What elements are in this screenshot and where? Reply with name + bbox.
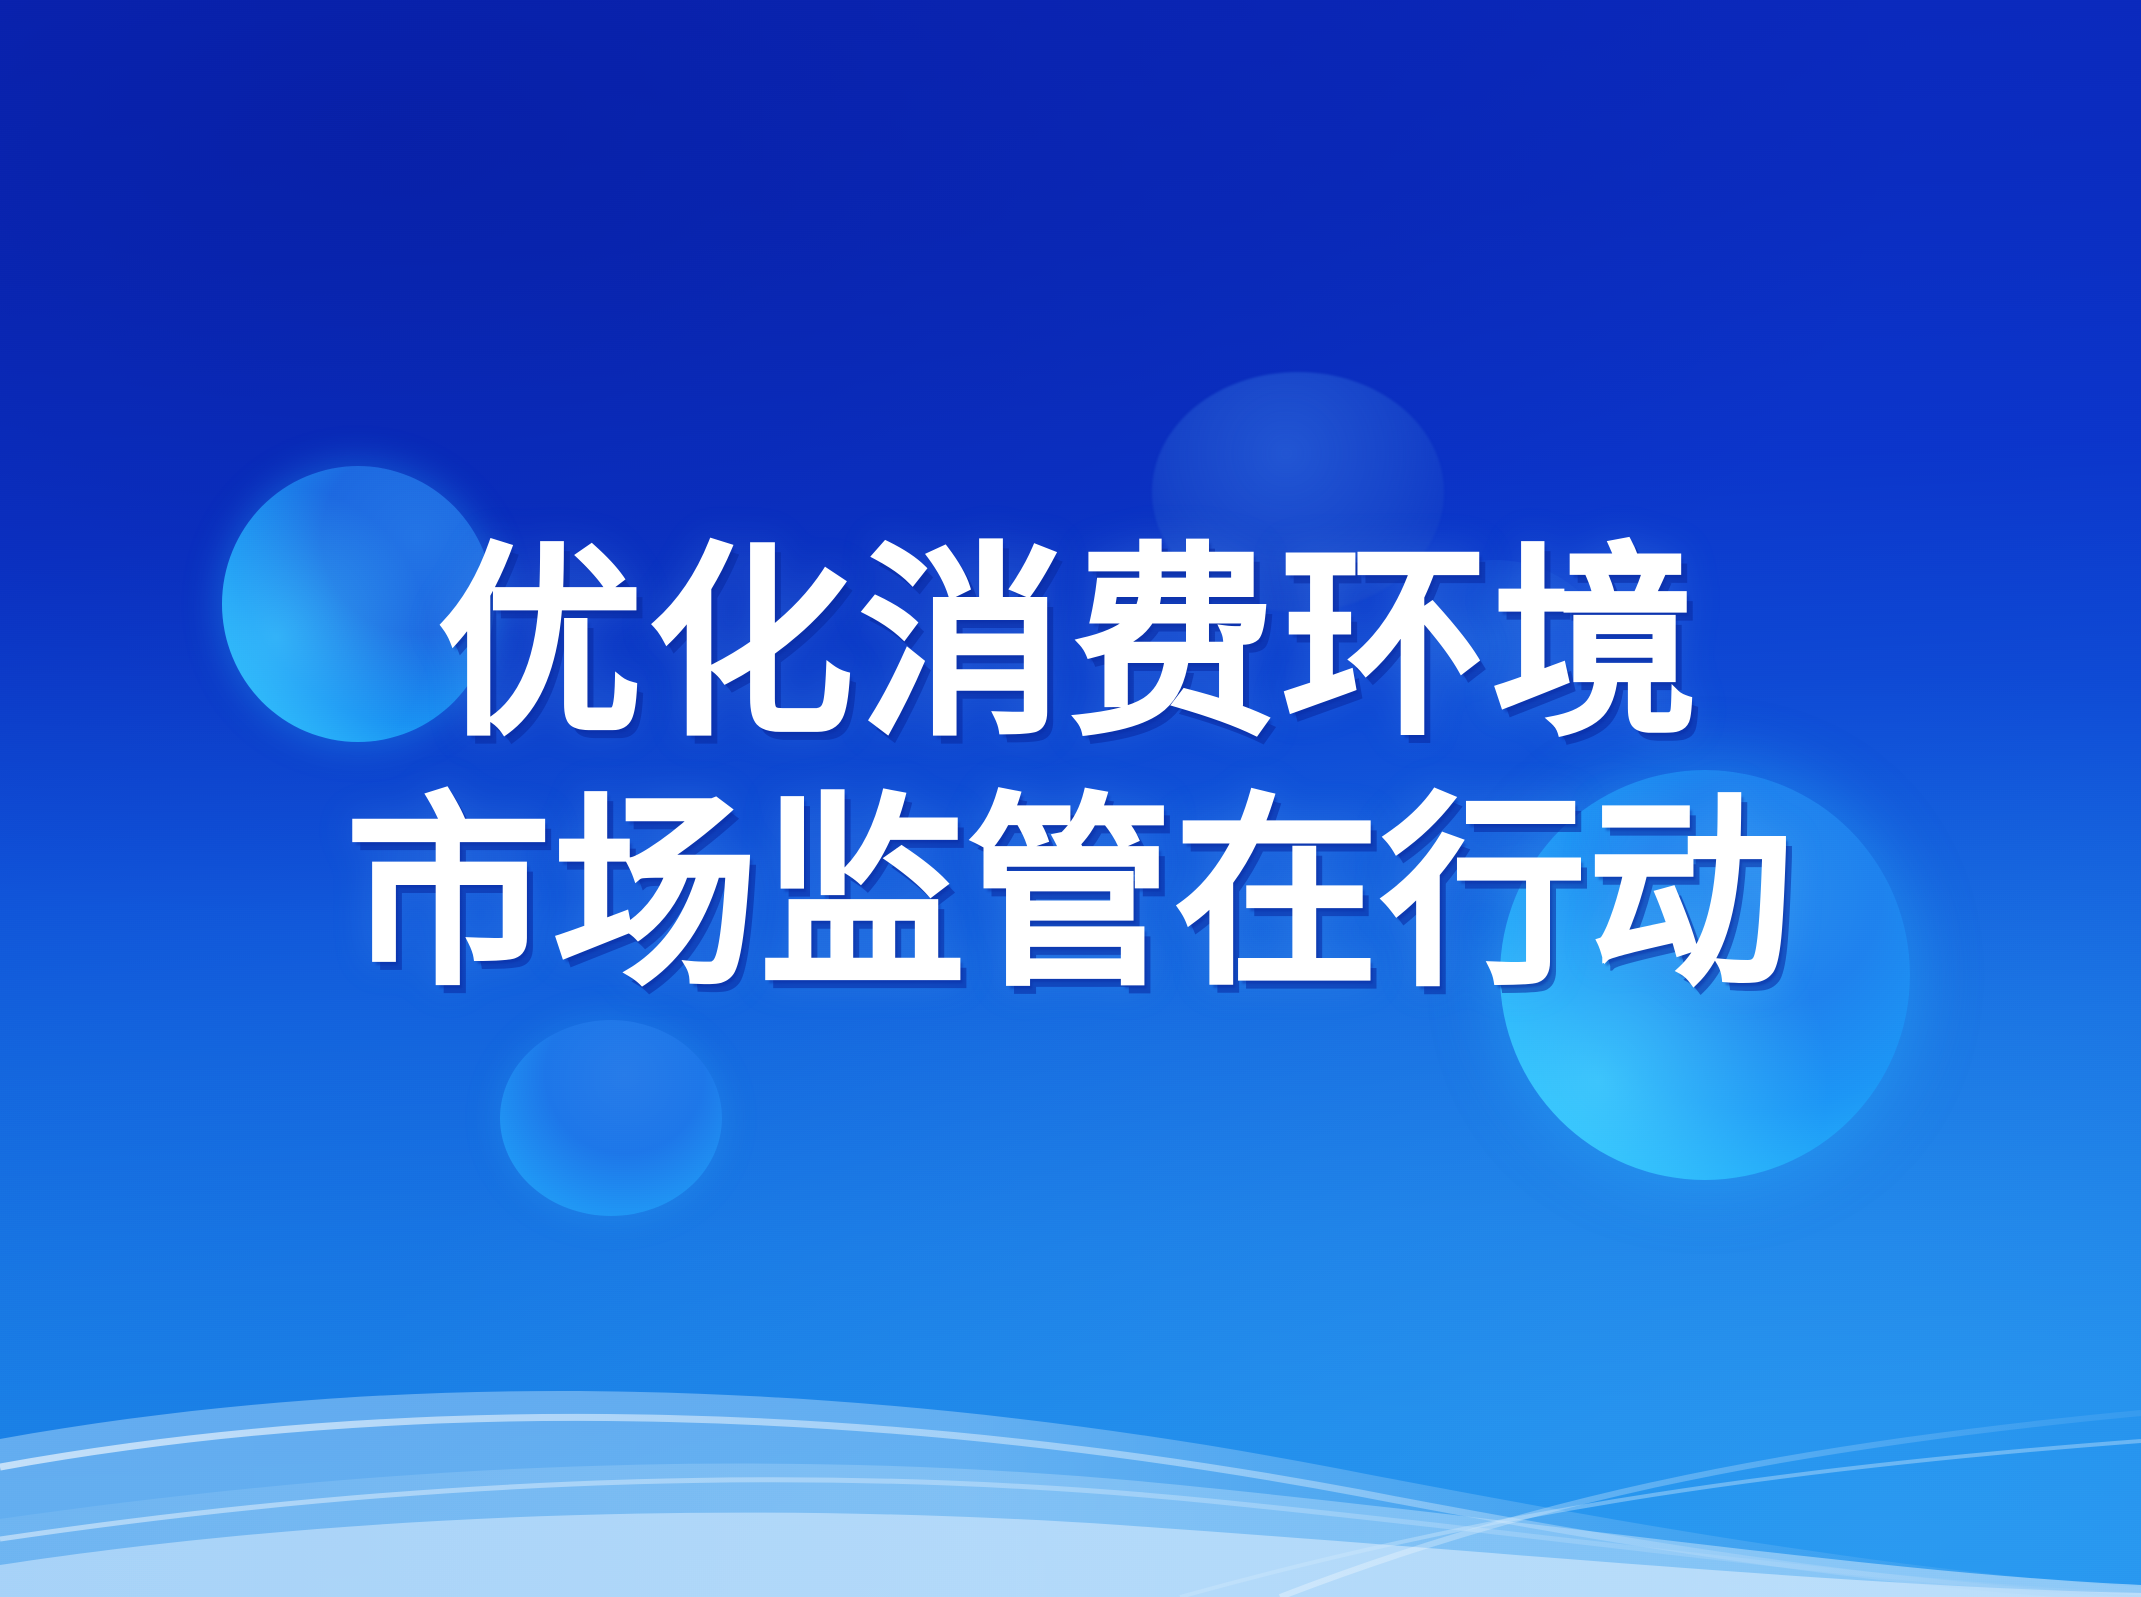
headline-line-2: 市场监管在行动 [0,770,2141,1020]
headline-line-1: 优化消费环境 [0,520,2141,770]
wave-ribbons-decoration [0,1167,2141,1597]
poster-canvas: 优化消费环境 市场监管在行动 [0,0,2141,1597]
page-title: 优化消费环境 市场监管在行动 [0,520,2141,1020]
